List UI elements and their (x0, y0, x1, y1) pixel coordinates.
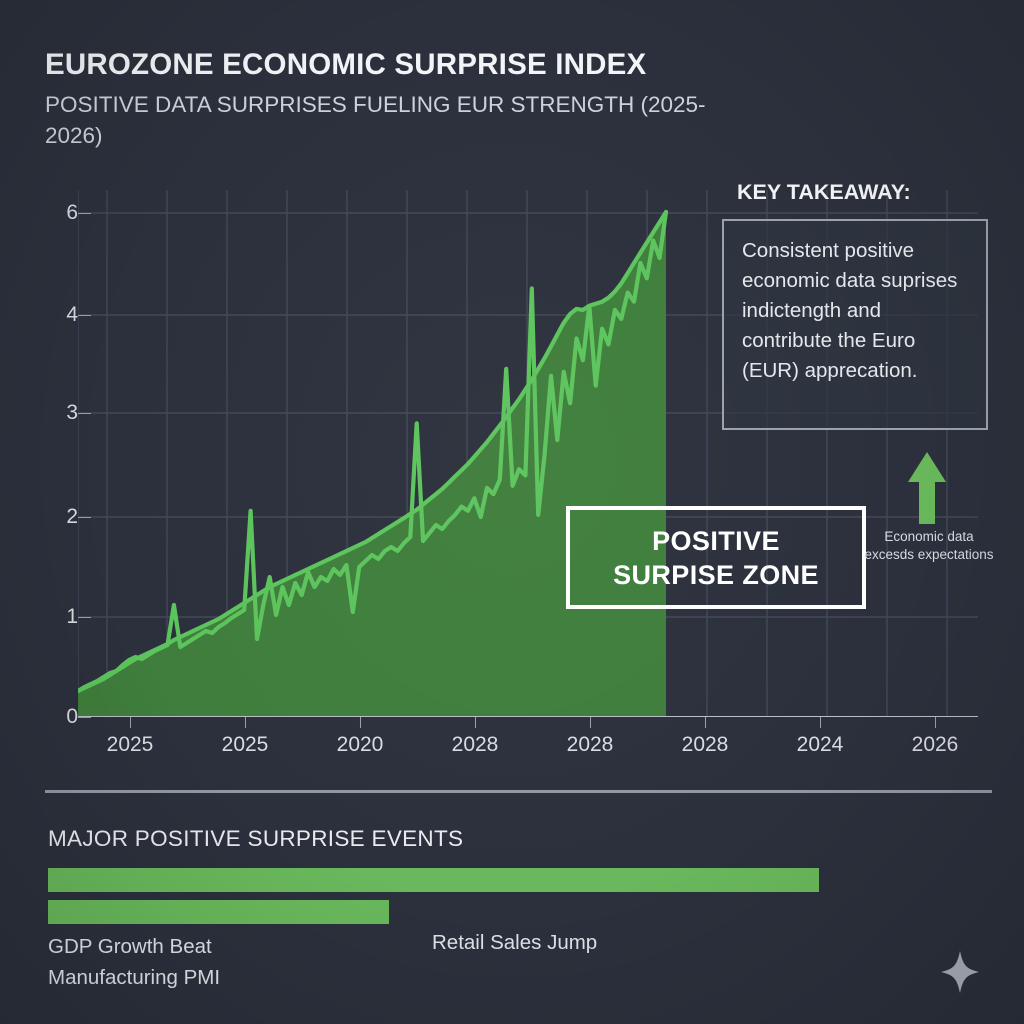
key-takeaway-heading: KEY TAKEAWAY: (737, 180, 911, 205)
x-tick-label: 2028 (452, 733, 499, 757)
infographic-canvas: EUROZONE ECONOMIC SURPRISE INDEX POSITIV… (0, 0, 1024, 1024)
x-tick-label: 2025 (222, 733, 269, 757)
legend-label-retail-sales-jump: Retail Sales Jump (432, 931, 597, 955)
legend-label-gdp-growth-beat: GDP Growth Beat (48, 935, 212, 958)
zone-label-line2: SURPISE ZONE (613, 560, 819, 590)
x-tick-mark (360, 717, 361, 728)
x-tick-label: 2024 (797, 733, 844, 757)
legend-label-manufacturing-pmi: Manufacturing PMI (48, 966, 220, 989)
x-tick-mark (820, 717, 821, 728)
key-takeaway-text: Consistent positive economic data supris… (742, 236, 972, 386)
x-tick-label: 2028 (682, 733, 729, 757)
x-tick-mark (705, 717, 706, 728)
x-tick-mark (590, 717, 591, 728)
x-tick-mark (475, 717, 476, 728)
arrow-annotation-text: Economic data excesds expectations (864, 528, 994, 564)
legend-bar-manufacturing-pmi (48, 900, 389, 924)
sparkle-icon (940, 950, 980, 994)
positive-surprise-zone-badge: POSITIVE SURPISE ZONE (566, 506, 866, 609)
x-tick-mark (130, 717, 131, 728)
x-tick-label: 2025 (107, 733, 154, 757)
x-tick-label: 2026 (912, 733, 959, 757)
x-tick-mark (245, 717, 246, 728)
section-divider (45, 790, 992, 793)
legend-labels-left: GDP Growth Beat Manufacturing PMI (48, 931, 220, 993)
x-tick-label: 2020 (337, 733, 384, 757)
x-tick-mark (935, 717, 936, 728)
up-arrow-icon (906, 450, 948, 526)
legend-title: MAJOR POSITIVE SURPRISE EVENTS (48, 826, 463, 852)
legend-bar-gdp-growth-beat (48, 868, 819, 892)
x-tick-label: 2028 (567, 733, 614, 757)
zone-label-line1: POSITIVE (652, 526, 780, 556)
